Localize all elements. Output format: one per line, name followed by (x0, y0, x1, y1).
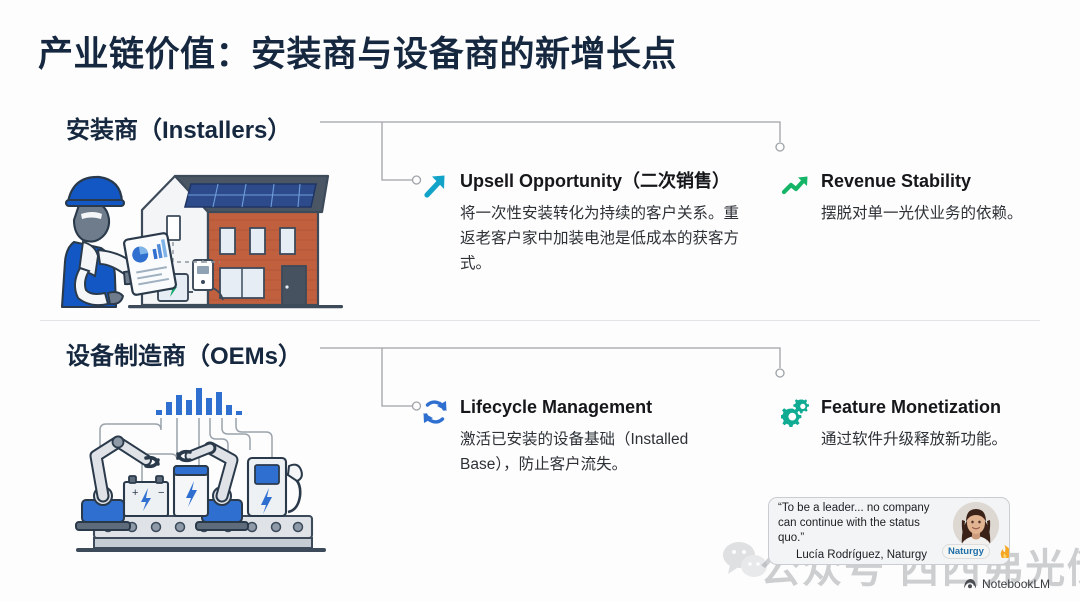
connector-node (776, 143, 784, 151)
section-heading-installers: 安装商（Installers） (66, 110, 291, 145)
feature-item-revenue-stability[interactable]: Revenue Stability 摆脱对单一光伏业务的依赖。 (781, 170, 1046, 226)
trending-up-icon (781, 171, 811, 201)
quote-card: “To be a leader... no company can contin… (768, 497, 1010, 565)
quote-content: “To be a leader... no company can contin… (778, 501, 949, 562)
connector-node (776, 369, 784, 377)
feature-title: Revenue Stability (821, 170, 1046, 193)
notebooklm-attribution: NotebookLM (963, 577, 1050, 591)
avatar (953, 502, 999, 548)
refresh-cycle-icon (420, 397, 450, 427)
solar-installer-house-illustration (50, 150, 350, 320)
naturgy-flame-icon (999, 544, 1010, 559)
feature-body: Feature Monetization 通过软件升级释放新功能。 (821, 396, 1046, 452)
page-title: 产业链价值：安装商与设备商的新增长点 (38, 26, 677, 77)
feature-item-lifecycle-management[interactable]: Lifecycle Management 激活已安装的设备基础（Installe… (420, 396, 740, 477)
quote-text: “To be a leader... no company can contin… (778, 501, 949, 547)
gears-icon (781, 397, 811, 427)
feature-body: Upsell Opportunity（二次销售） 将一次性安装转化为持续的客户关… (460, 170, 740, 276)
slide-root: 产业链价值：安装商与设备商的新增长点 安装商（Installers） (0, 0, 1080, 602)
svg-text:+: + (132, 487, 138, 499)
avatar-area: Naturgy (949, 501, 1003, 561)
feature-description: 摆脱对单一光伏业务的依赖。 (821, 201, 1046, 226)
feature-item-upsell-opportunity[interactable]: Upsell Opportunity（二次销售） 将一次性安装转化为持续的客户关… (420, 170, 740, 276)
notebooklm-logo-icon (963, 577, 977, 591)
quote-attribution: Lucía Rodríguez, Naturgy (778, 549, 949, 561)
brand-badge-naturgy: Naturgy (943, 545, 989, 558)
section-heading-oems: 设备制造商（OEMs） (66, 336, 302, 371)
battery-factory-assembly-line-illustration: + − (50, 378, 350, 563)
feature-description: 通过软件升级释放新功能。 (821, 427, 1046, 452)
person-avatar-image (953, 502, 999, 548)
notebooklm-label: NotebookLM (982, 577, 1050, 591)
arrow-up-right-icon (420, 171, 450, 201)
feature-title: Lifecycle Management (460, 396, 740, 419)
feature-description: 激活已安装的设备基础（Installed Base），防止客户流失。 (460, 427, 740, 477)
feature-body: Revenue Stability 摆脱对单一光伏业务的依赖。 (821, 170, 1046, 226)
feature-item-feature-monetization[interactable]: Feature Monetization 通过软件升级释放新功能。 (781, 396, 1046, 452)
feature-description: 将一次性安装转化为持续的客户关系。重返老客户家中加装电池是低成本的获客方式。 (460, 201, 740, 276)
feature-title: Feature Monetization (821, 396, 1046, 419)
svg-text:−: − (158, 487, 164, 499)
feature-title: Upsell Opportunity（二次销售） (460, 170, 740, 193)
feature-body: Lifecycle Management 激活已安装的设备基础（Installe… (460, 396, 740, 477)
section-divider (40, 320, 1040, 321)
